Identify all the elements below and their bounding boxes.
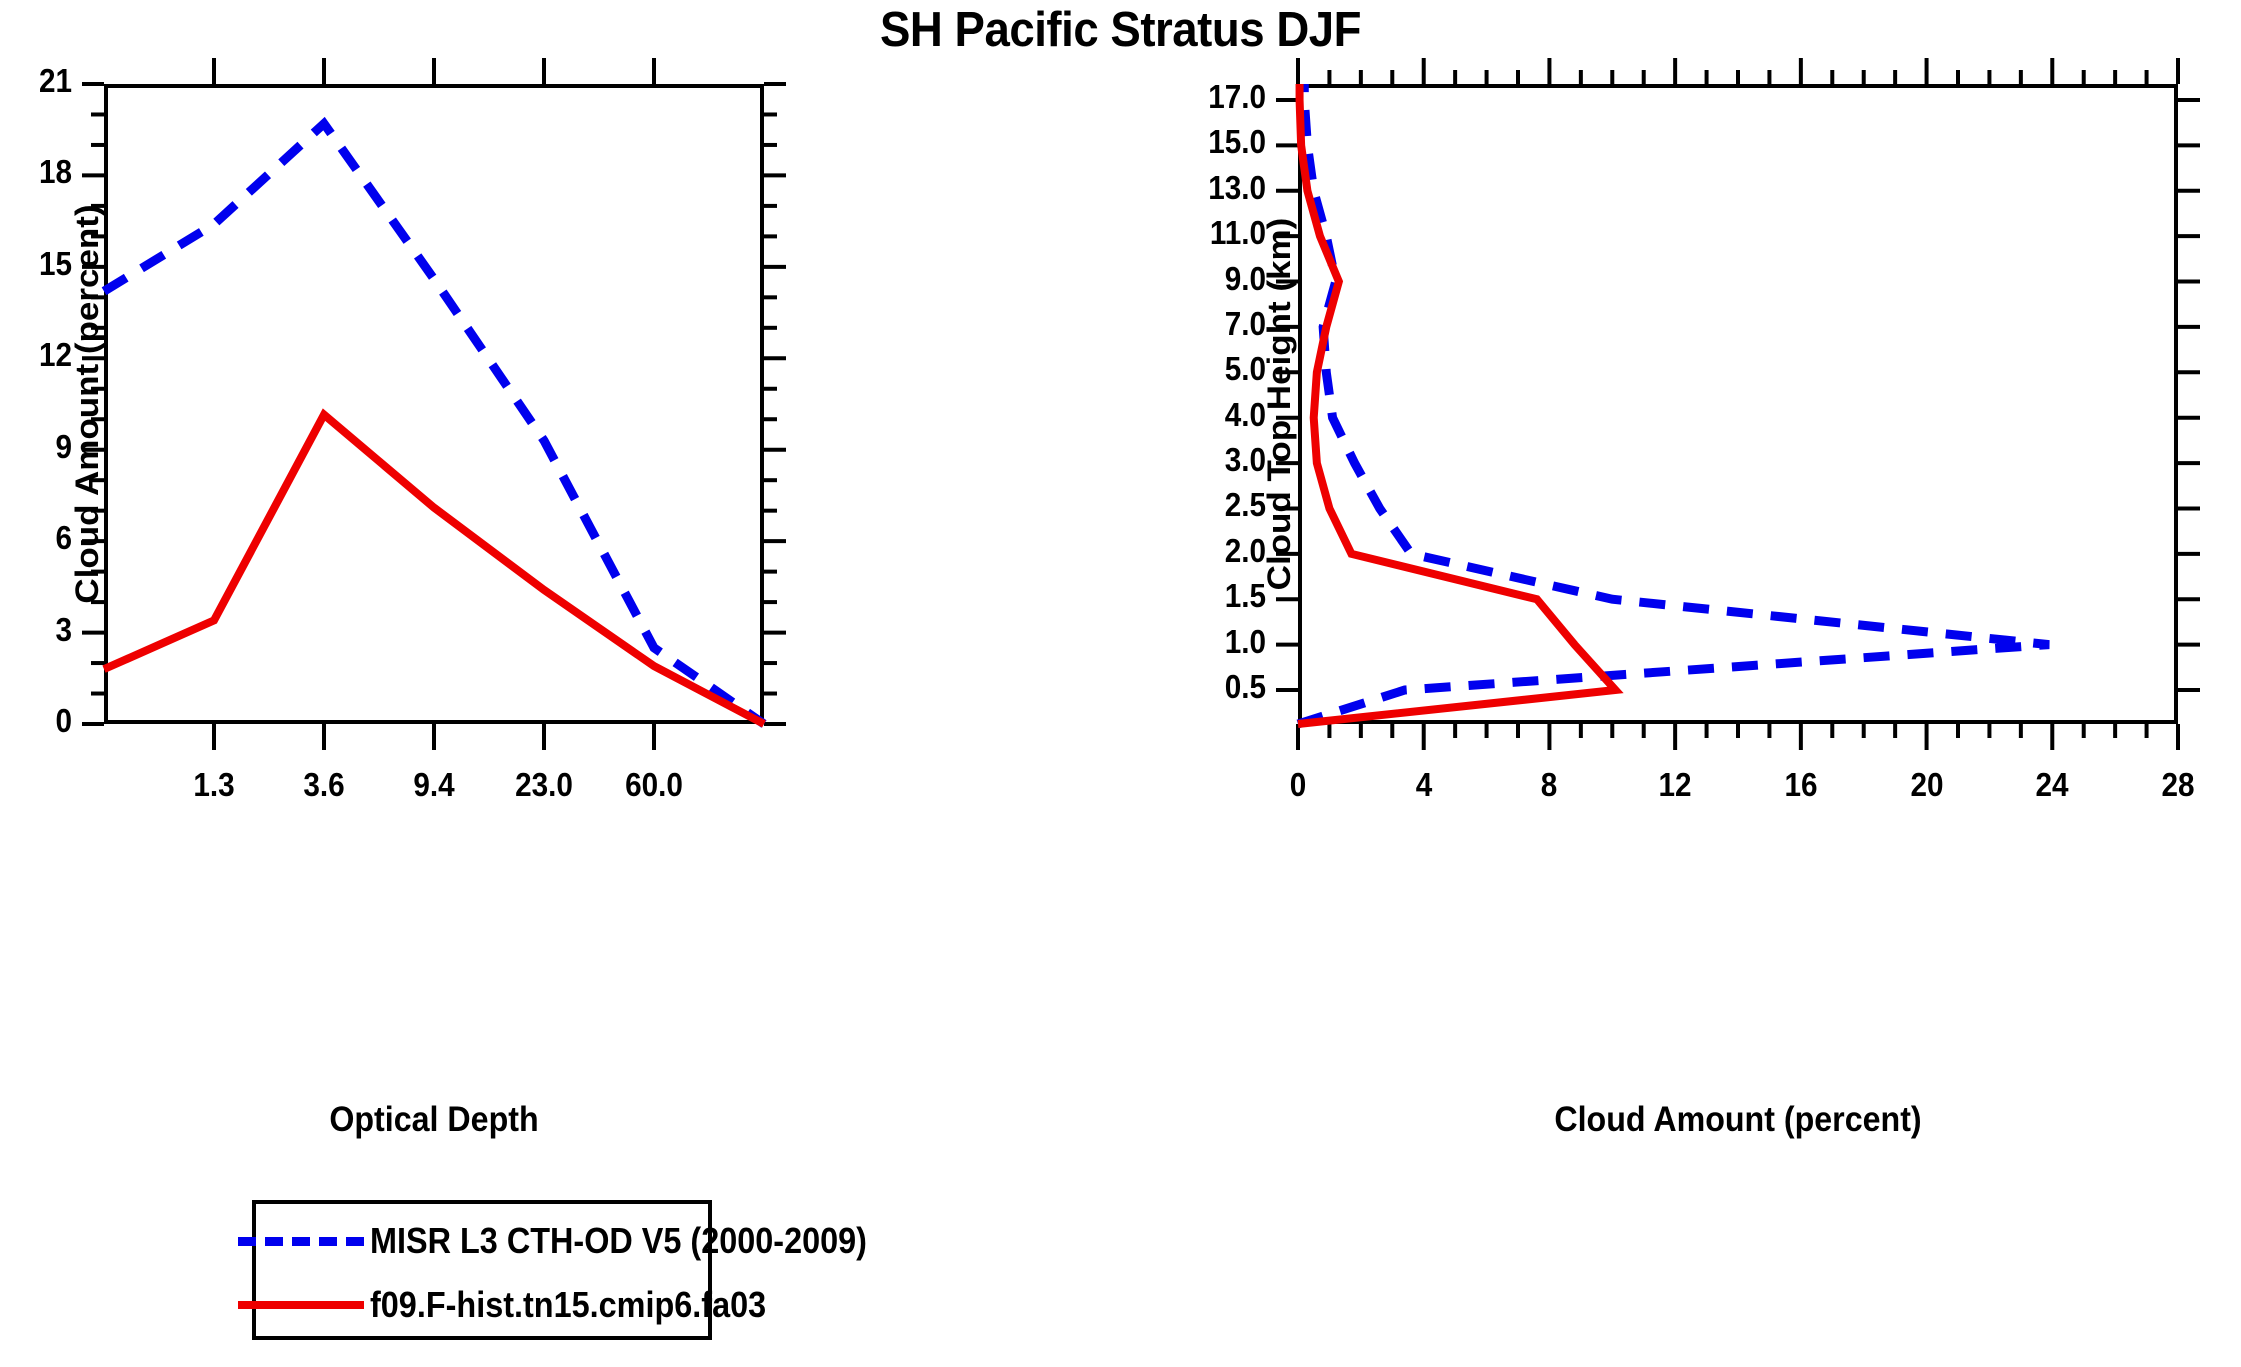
- left-x-axis-title: Optical Depth: [250, 1100, 618, 1140]
- y-tick-label: 5.0: [1162, 350, 1266, 388]
- y-tick-label: 15: [14, 245, 72, 283]
- left-series-misr: [104, 124, 764, 724]
- y-tick-label: 0.5: [1162, 668, 1266, 706]
- x-tick-label: 9.4: [371, 766, 497, 804]
- right-series-misr: [1298, 84, 2049, 724]
- legend-label-misr: MISR L3 CTH-OD V5 (2000-2009): [370, 1220, 867, 1262]
- x-tick-label: 4: [1361, 766, 1487, 804]
- x-tick-label: 24: [1989, 766, 2115, 804]
- y-tick-label: 15.0: [1162, 123, 1266, 161]
- right-x-axis-title: Cloud Amount (percent): [1508, 1100, 1968, 1140]
- legend-line-solid-icon: [238, 1301, 364, 1309]
- y-tick-label: 3.0: [1162, 441, 1266, 479]
- x-tick-label: 3.6: [261, 766, 387, 804]
- y-tick-label: 2.0: [1162, 532, 1266, 570]
- y-tick-label: 6: [14, 519, 72, 557]
- y-tick-label: 0: [14, 702, 72, 740]
- x-tick-label: 12: [1612, 766, 1738, 804]
- right-y-axis-title: Cloud Top Height (km): [1262, 134, 1299, 674]
- right-series-model: [1298, 84, 1615, 724]
- x-tick-label: 16: [1738, 766, 1864, 804]
- y-tick-label: 12: [14, 336, 72, 374]
- right-chart-panel: 0.51.01.52.02.53.04.05.07.09.011.013.015…: [1120, 0, 2241, 1160]
- x-tick-label: 23.0: [481, 766, 607, 804]
- legend-line-dashed-icon: [238, 1237, 364, 1246]
- y-tick-label: 18: [14, 153, 72, 191]
- legend-row-misr[interactable]: MISR L3 CTH-OD V5 (2000-2009): [238, 1220, 922, 1262]
- y-tick-label: 1.0: [1162, 623, 1266, 661]
- y-tick-label: 3: [14, 611, 72, 649]
- x-tick-label: 20: [1864, 766, 1990, 804]
- x-tick-label: 0: [1235, 766, 1361, 804]
- left-series-model: [104, 415, 764, 724]
- y-tick-label: 9.0: [1162, 260, 1266, 298]
- y-tick-label: 1.5: [1162, 577, 1266, 615]
- x-tick-label: 28: [2115, 766, 2241, 804]
- y-tick-label: 4.0: [1162, 396, 1266, 434]
- y-tick-label: 2.5: [1162, 486, 1266, 524]
- y-tick-label: 7.0: [1162, 305, 1266, 343]
- y-tick-label: 21: [14, 62, 72, 100]
- legend-label-model: f09.F-hist.tn15.cmip6.fa03: [370, 1284, 766, 1326]
- chart-legend: MISR L3 CTH-OD V5 (2000-2009) f09.F-hist…: [252, 1200, 712, 1340]
- left-chart-panel: 036912151821 1.33.69.423.060.0 Optical D…: [0, 0, 1120, 1160]
- legend-row-model[interactable]: f09.F-hist.tn15.cmip6.fa03: [238, 1284, 810, 1326]
- y-tick-label: 11.0: [1162, 214, 1266, 252]
- y-tick-label: 17.0: [1162, 78, 1266, 116]
- x-tick-label: 8: [1486, 766, 1612, 804]
- y-tick-label: 9: [14, 428, 72, 466]
- y-tick-label: 13.0: [1162, 169, 1266, 207]
- left-plot-svg: [0, 0, 1120, 1160]
- left-y-axis-title: Cloud Amount (percent): [70, 134, 107, 674]
- x-tick-label: 1.3: [151, 766, 277, 804]
- x-tick-label: 60.0: [591, 766, 717, 804]
